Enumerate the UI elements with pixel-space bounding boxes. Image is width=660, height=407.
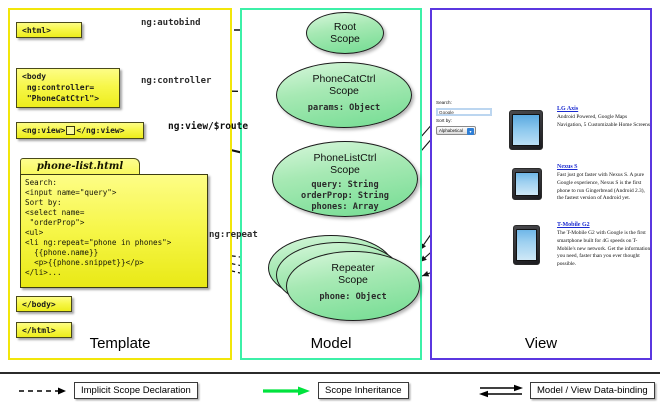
architecture-diagram: Template <html> <body ng:controller= "Ph…: [0, 0, 660, 405]
scope-phonelistctrl-props: query: String orderProp: String phones: …: [273, 180, 417, 213]
code-box-html-open: <html>: [16, 22, 82, 38]
scope-root: Root Scope: [306, 12, 384, 54]
ngview-open-tag: <ng:view>: [22, 126, 65, 135]
phone-screen: [516, 229, 537, 261]
code-box-body-open: <body ng:controller= "PhoneCatCtrl">: [16, 68, 120, 108]
legend-label-implicit-scope: Implicit Scope Declaration: [74, 382, 198, 399]
search-input[interactable]: Google: [436, 108, 492, 116]
scope-root-title-2: Scope: [307, 33, 383, 45]
edge-label-ng-autobind: ng:autobind: [141, 18, 201, 28]
note-phone-list-html: phone-list.html Search: <input name="que…: [20, 158, 208, 288]
code-box-html-close: </html>: [16, 322, 72, 338]
panel-view-label: View: [432, 335, 650, 352]
scope-phonecatctrl-title-1: PhoneCatCtrl: [277, 73, 411, 85]
scope-root-title-1: Root: [307, 21, 383, 33]
dashed-arrow-icon: [18, 385, 68, 397]
code-box-body-close: </body>: [16, 296, 72, 312]
edge-label-ng-repeat: ng:repeat: [209, 230, 258, 240]
phone-name-link[interactable]: Nexus S: [557, 164, 651, 170]
phone-snippet: The T-Mobile G2 with Google is the first…: [557, 230, 651, 269]
legend-label-data-binding: Model / View Data-binding: [530, 382, 655, 399]
list-item: Nexus S Fast just got faster with Nexus …: [557, 164, 651, 203]
legend-item-data-binding: Model / View Data-binding: [478, 382, 655, 399]
legend-label-scope-inheritance: Scope Inheritance: [318, 382, 409, 399]
scope-phonecatctrl-title-2: Scope: [277, 85, 411, 97]
scope-repeater-front: Repeater Scope phone: Object: [286, 251, 420, 321]
legend-item-implicit-scope: Implicit Scope Declaration: [18, 382, 198, 399]
ngview-placeholder-icon: [66, 126, 75, 135]
scope-repeater-props: phone: Object: [287, 292, 419, 303]
scope-phonecatctrl-props: params: Object: [277, 103, 411, 114]
scope-repeater-title-2: Scope: [287, 274, 419, 286]
chevron-down-icon: ▾: [467, 128, 474, 135]
double-arrow-icon: [478, 383, 524, 399]
code-box-ngview: <ng:view></ng:view>: [16, 122, 144, 139]
search-label: Search:: [436, 100, 498, 107]
sort-select-value: Alphabetical: [439, 128, 463, 133]
list-item: T-Mobile G2 The T-Mobile G2 with Google …: [557, 222, 651, 269]
phone-thumbnail-nexus-s: [512, 168, 542, 200]
sort-select[interactable]: Alphabetical ▾: [436, 126, 476, 135]
legend-item-scope-inheritance: Scope Inheritance: [262, 382, 409, 399]
list-item: LG Axis Android Powered, Google Maps Nav…: [557, 106, 651, 130]
phone-name-link[interactable]: LG Axis: [557, 106, 651, 112]
ngview-close-tag: </ng:view>: [76, 126, 124, 135]
scope-phonelistctrl-title-2: Scope: [273, 164, 417, 176]
phone-screen: [515, 172, 539, 196]
note-tab: phone-list.html: [20, 158, 140, 175]
phone-screen: [512, 114, 540, 146]
scope-phonelistctrl-title-1: PhoneListCtrl: [273, 152, 417, 164]
view-search-form: Search: Google Sort by: Alphabetical ▾: [436, 100, 498, 135]
edge-label-ng-controller: ng:controller: [141, 76, 211, 86]
note-title: phone-list.html: [21, 159, 139, 174]
scope-phonelistctrl: PhoneListCtrl Scope query: String orderP…: [272, 141, 418, 217]
edge-label-ng-view-route: ng:view/$route: [168, 121, 248, 132]
scope-repeater-stack: Repeater Scope phone: Object: [268, 235, 424, 327]
phone-thumbnail-lg-axis: [509, 110, 543, 150]
phone-thumbnail-t-mobile-g2: [513, 225, 540, 265]
sort-label: Sort by:: [436, 118, 498, 125]
phone-name-link[interactable]: T-Mobile G2: [557, 222, 651, 228]
phone-snippet: Android Powered, Google Maps Navigation,…: [557, 114, 651, 130]
note-code: Search: <input name="query"> Sort by: <s…: [20, 174, 208, 288]
panel-model-label: Model: [242, 335, 420, 352]
phone-snippet: Fast just got faster with Nexus S. A pur…: [557, 172, 651, 203]
scope-phonecatctrl: PhoneCatCtrl Scope params: Object: [276, 62, 412, 128]
legend: Implicit Scope Declaration Scope Inherit…: [0, 372, 660, 407]
green-arrow-icon: [262, 385, 312, 397]
scope-repeater-title-1: Repeater: [287, 262, 419, 274]
